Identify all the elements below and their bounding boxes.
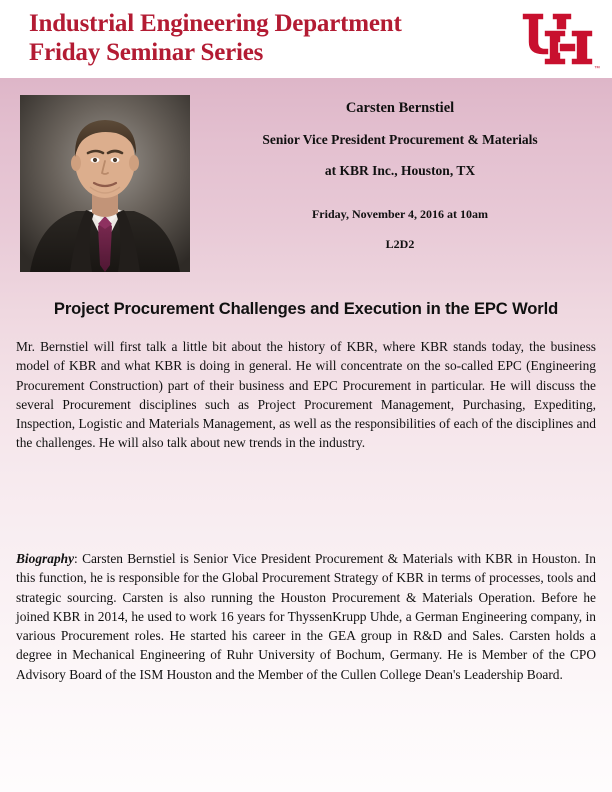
speaker-info: Carsten Bernstiel Senior Vice President …: [200, 98, 600, 253]
biography-label: Biography: [16, 551, 74, 566]
event-room: L2D2: [200, 235, 600, 253]
speaker-affiliation: at KBR Inc., Houston, TX: [200, 161, 600, 181]
flyer-content: Carsten Bernstiel Senior Vice President …: [0, 78, 612, 792]
speaker-photo: [20, 95, 190, 272]
speaker-position: Senior Vice President Procurement & Mate…: [200, 130, 600, 150]
biography-text: Carsten Bernstiel is Senior Vice Preside…: [16, 551, 596, 682]
biography-separator: :: [74, 551, 82, 566]
page-header: Industrial Engineering Department Friday…: [0, 0, 612, 78]
talk-abstract: Mr. Bernstiel will first talk a little b…: [16, 337, 596, 453]
department-title: Industrial Engineering Department Friday…: [29, 9, 499, 67]
speaker-name: Carsten Bernstiel: [200, 98, 600, 118]
trademark-symbol: ™: [594, 65, 600, 72]
department-title-line-1: Industrial Engineering Department: [29, 9, 499, 38]
talk-title: Project Procurement Challenges and Execu…: [0, 298, 612, 320]
event-datetime: Friday, November 4, 2016 at 10am: [200, 205, 600, 223]
speaker-biography: Biography: Carsten Bernstiel is Senior V…: [16, 549, 596, 684]
university-of-houston-logo-icon: ™: [514, 8, 600, 72]
department-title-line-2: Friday Seminar Series: [29, 38, 499, 67]
seminar-flyer: Industrial Engineering Department Friday…: [0, 0, 612, 792]
